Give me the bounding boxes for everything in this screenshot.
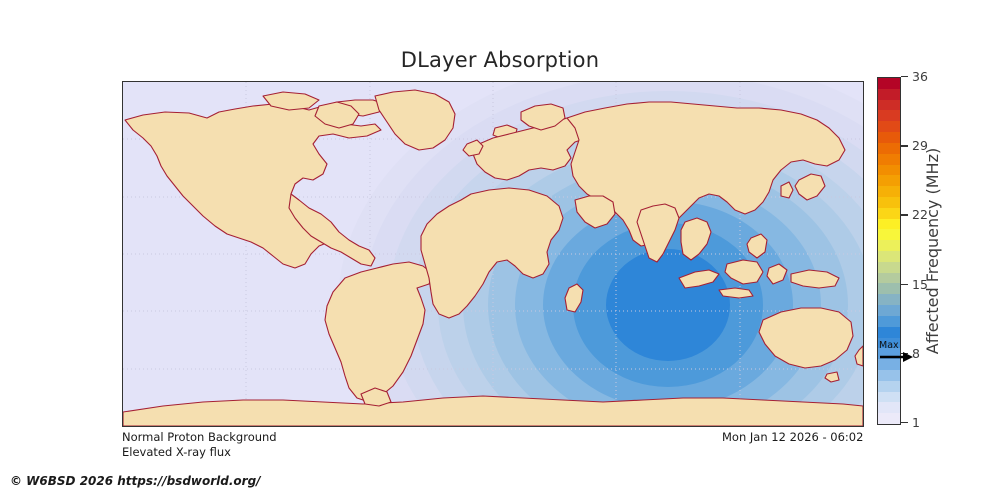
world-map-svg	[123, 82, 863, 426]
colorbar-band	[878, 229, 900, 240]
max-label: Max	[879, 341, 899, 351]
colorbar-band	[878, 273, 900, 284]
colorbar-band	[878, 413, 900, 424]
colorbar-band	[878, 197, 900, 208]
colorbar-band	[878, 100, 900, 111]
colorbar-band	[878, 381, 900, 392]
colorbar-tick-dash	[901, 284, 908, 285]
colorbar-band	[878, 143, 900, 154]
colorbar-band	[878, 165, 900, 176]
copyright: © W6BSD 2026 https://bsdworld.org/	[10, 474, 261, 488]
colorbar-band	[878, 186, 900, 197]
colorbar-title: Affected Frequency (MHz)	[921, 77, 945, 425]
colorbar-band	[878, 316, 900, 327]
land-antarctica	[123, 396, 863, 426]
colorbar-band	[878, 110, 900, 121]
colorbar-tick-label: 1	[912, 415, 920, 430]
max-marker: Max	[879, 342, 913, 366]
colorbar-band	[878, 219, 900, 230]
colorbar-band	[878, 305, 900, 316]
timestamp: Mon Jan 12 2026 - 06:02	[722, 430, 863, 444]
figure-root: DLayer Absorption	[0, 0, 1000, 500]
colorbar-band	[878, 262, 900, 273]
colorbar-band	[878, 370, 900, 381]
colorbar-band	[878, 78, 900, 89]
colorbar-band	[878, 392, 900, 403]
map-panel[interactable]	[122, 81, 864, 427]
colorbar-band	[878, 240, 900, 251]
colorbar-tick-dash	[901, 145, 908, 146]
colorbar-band	[878, 89, 900, 100]
arrow-right-icon	[879, 351, 913, 363]
colorbar-tick-dash	[901, 422, 908, 423]
colorbar-band	[878, 251, 900, 262]
land-java	[719, 288, 753, 298]
map-canvas	[123, 82, 863, 426]
colorbar-band	[878, 294, 900, 305]
page-title: DLayer Absorption	[0, 48, 1000, 72]
note-xray-flux: Elevated X-ray flux	[122, 445, 231, 459]
colorbar-band	[878, 154, 900, 165]
colorbar-tick-label: 8	[912, 346, 920, 361]
colorbar-band	[878, 121, 900, 132]
colorbar-tick-dash	[901, 214, 908, 215]
colorbar-band	[878, 283, 900, 294]
colorbar-band	[878, 175, 900, 186]
colorbar-gradient	[877, 77, 901, 425]
colorbar-band	[878, 327, 900, 338]
note-proton-background: Normal Proton Background	[122, 430, 277, 444]
colorbar-band	[878, 402, 900, 413]
colorbar-tick-dash	[901, 76, 908, 77]
colorbar-band	[878, 208, 900, 219]
colorbar[interactable]: 1815222936 Max	[877, 77, 901, 425]
colorbar-band	[878, 132, 900, 143]
